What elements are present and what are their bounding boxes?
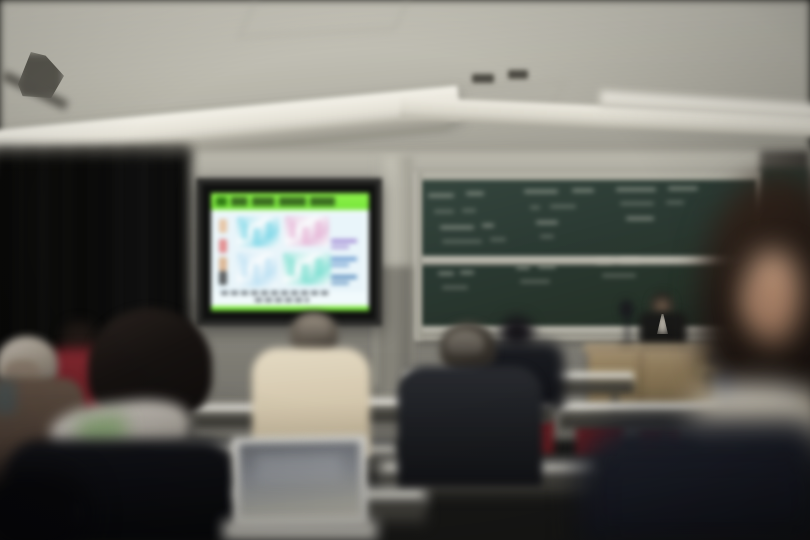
- attendee-foreground-right-ear: [748, 286, 774, 320]
- chalk-mark: [616, 188, 656, 191]
- icon-figure-4: [219, 271, 227, 285]
- label-1-sub: [331, 245, 349, 249]
- panel-figure: [289, 221, 296, 238]
- chalk-mark: [442, 240, 482, 243]
- chalk-mark: [516, 266, 530, 269]
- panel-figure: [302, 227, 309, 244]
- label-2-sub: [331, 263, 349, 267]
- label-1: [331, 239, 357, 243]
- footer-line-2: [255, 298, 309, 302]
- laptop-screen-content: [256, 455, 343, 494]
- chalk-mark: [540, 235, 554, 238]
- attendee-lanyard: [0, 380, 16, 414]
- attendee-dark-jacket-hair: [446, 330, 484, 354]
- attendee-dark-jacket-body: [398, 366, 542, 486]
- chalk-mark: [490, 238, 506, 241]
- chalk-mark: [620, 202, 654, 205]
- lecture-hall-photo: [0, 0, 810, 540]
- slide-icon-column: [215, 213, 235, 292]
- presentation-slide: [211, 193, 369, 311]
- microphone-icon: [620, 300, 633, 317]
- chalk-mark: [668, 187, 698, 190]
- panel-figure: [287, 258, 295, 276]
- laptop-keyboard: [222, 520, 378, 540]
- panel-figure: [241, 258, 248, 277]
- foreground-shadow: [0, 470, 90, 540]
- chalk-mark: [462, 209, 476, 212]
- chalk-mark: [460, 271, 474, 274]
- chalk-mark: [530, 206, 540, 209]
- panel-figure: [265, 258, 272, 277]
- chalk-mark: [524, 190, 558, 193]
- chalk-mark: [428, 194, 454, 197]
- chalk-mark: [466, 192, 484, 195]
- slide-footer-text: [221, 291, 361, 305]
- icon-figure-3: [219, 257, 227, 271]
- chalk-mark: [626, 217, 654, 220]
- slide-title-text: [231, 197, 335, 206]
- panel-figure: [241, 222, 248, 239]
- ceiling-speaker-icon: [508, 70, 528, 79]
- podium-seam: [640, 352, 642, 406]
- curtain-rail: [0, 148, 190, 157]
- slide-footer-bar: [211, 306, 369, 311]
- knit-sweater-texture: [600, 456, 810, 540]
- chalk-mark: [438, 272, 454, 275]
- chalk-mark: [442, 286, 468, 289]
- slide-bullet-icon: [216, 197, 227, 206]
- panel-figure: [266, 222, 273, 239]
- chalk-mark: [536, 221, 558, 224]
- footer-line-1: [221, 291, 329, 295]
- icon-figure-2: [219, 239, 227, 253]
- panel-figure: [315, 221, 322, 238]
- chalk-mark: [572, 189, 594, 192]
- label-3: [331, 275, 357, 279]
- blackboard-side-rail: [412, 172, 422, 340]
- panel-figure: [301, 264, 309, 282]
- chalk-mark: [520, 280, 550, 283]
- chalk-mark: [434, 210, 454, 213]
- label-2: [331, 257, 357, 261]
- panel-figure: [253, 264, 260, 283]
- panel-figure: [315, 258, 323, 276]
- chalk-mark: [550, 205, 576, 208]
- chalk-mark: [538, 265, 556, 268]
- slide-legend-labels: [329, 213, 365, 292]
- chalk-mark: [602, 274, 636, 277]
- panel-figure: [253, 228, 260, 245]
- chalk-mark: [482, 224, 494, 227]
- icon-figure-1: [219, 219, 227, 233]
- label-3-sub: [331, 281, 349, 285]
- chalk-mark: [666, 201, 684, 204]
- attendee-cream-jacket-hair: [298, 316, 330, 336]
- ceiling-speaker-icon: [472, 74, 494, 83]
- chalk-mark: [440, 226, 474, 229]
